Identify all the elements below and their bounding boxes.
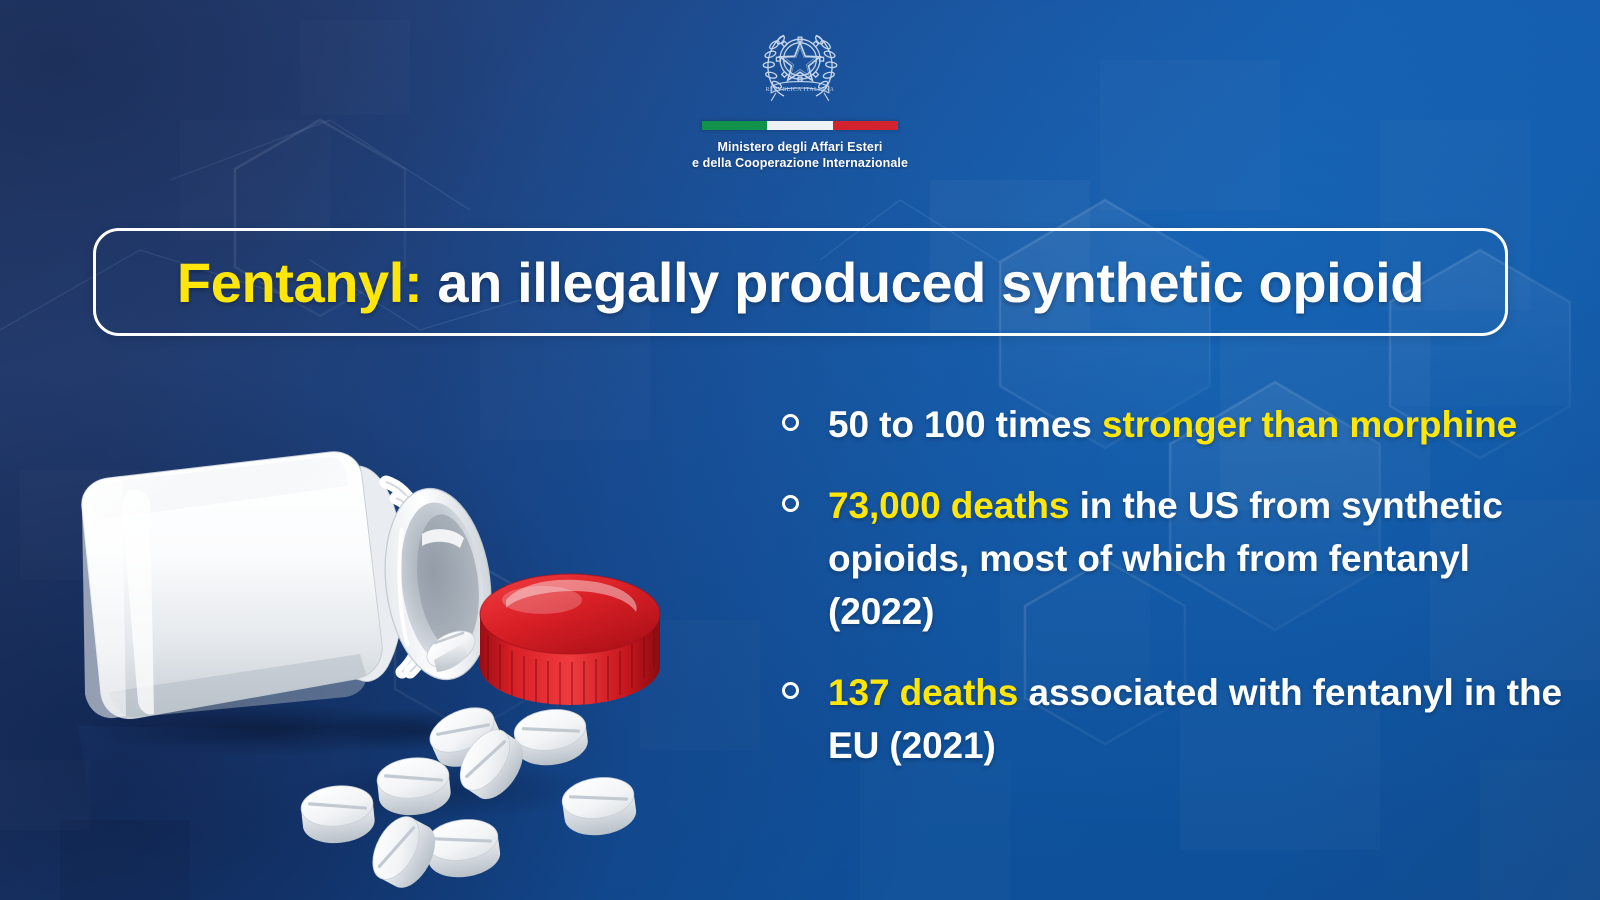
flag-stripe-red xyxy=(833,121,898,130)
flag-stripe-white xyxy=(767,121,832,130)
infographic-slide: REPVBLICA ITALIANA Ministero degli Affar… xyxy=(0,0,1600,900)
ministry-line-1: Ministero degli Affari Esteri xyxy=(692,139,908,155)
fact-list-item: 137 deaths associated with fentanyl in t… xyxy=(782,666,1572,772)
fact-list: 50 to 100 times stronger than morphine73… xyxy=(782,398,1572,800)
bullet-circle-icon xyxy=(782,495,799,512)
fact-text: 73,000 deaths in the US from synthetic o… xyxy=(828,479,1572,638)
spilled-pill-bottle-illustration xyxy=(30,430,730,890)
fact-plain: 50 to 100 times xyxy=(828,404,1102,445)
bullet-circle-icon xyxy=(782,414,799,431)
pill xyxy=(363,809,444,890)
fact-highlight: stronger than morphine xyxy=(1102,404,1517,445)
pill-bottle xyxy=(82,452,502,719)
title-rest: an illegally produced synthetic opioid xyxy=(422,251,1424,314)
flag-stripe-green xyxy=(702,121,767,130)
fact-list-item: 73,000 deaths in the US from synthetic o… xyxy=(782,479,1572,638)
italian-republic-emblem: REPVBLICA ITALIANA xyxy=(752,16,848,112)
bullet-circle-icon xyxy=(782,682,799,699)
ministry-line-2: e della Cooperazione Internazionale xyxy=(692,155,908,171)
title-banner: Fentanyl: an illegally produced syntheti… xyxy=(93,228,1508,336)
page-title: Fentanyl: an illegally produced syntheti… xyxy=(177,250,1424,315)
bottle-cap xyxy=(480,574,660,706)
fact-list-item: 50 to 100 times stronger than morphine xyxy=(782,398,1572,451)
pill xyxy=(512,705,591,769)
title-highlight: Fentanyl: xyxy=(177,251,422,314)
svg-text:REPVBLICA ITALIANA: REPVBLICA ITALIANA xyxy=(766,87,835,93)
ministry-logo-block: REPVBLICA ITALIANA Ministero degli Affar… xyxy=(0,16,1600,171)
pill xyxy=(424,815,503,881)
italy-tricolor-bar xyxy=(702,121,898,130)
ministry-name: Ministero degli Affari Esteri e della Co… xyxy=(692,139,908,171)
fact-text: 137 deaths associated with fentanyl in t… xyxy=(828,666,1572,772)
fact-text: 50 to 100 times stronger than morphine xyxy=(828,398,1517,451)
fact-highlight: 137 deaths xyxy=(828,672,1018,713)
fact-highlight: 73,000 deaths xyxy=(828,485,1069,526)
